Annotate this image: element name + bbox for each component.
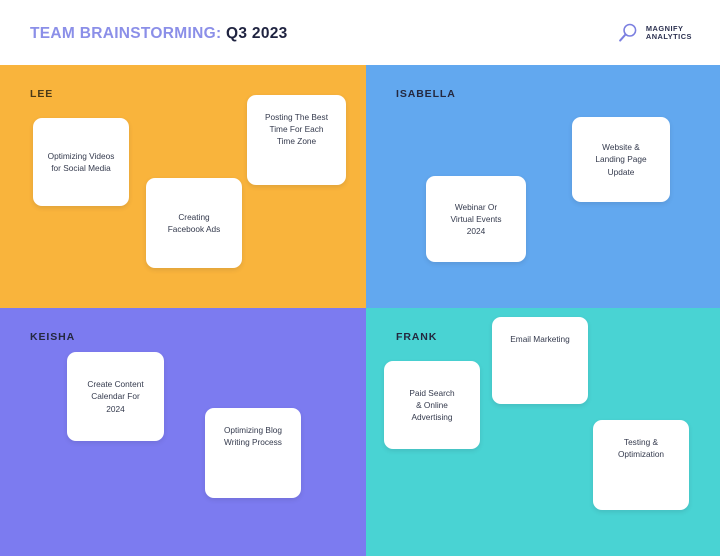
quadrant-keisha: KEISHA Create Content Calendar For 2024O… (0, 308, 366, 556)
sticky-note-text: Website & Landing Page Update (580, 141, 662, 177)
quadrant-isabella: ISABELLA Webinar Or Virtual Events 2024W… (366, 65, 720, 308)
quadrant-frank: FRANK Paid Search & Online AdvertisingEm… (366, 308, 720, 556)
sticky-note-text: Webinar Or Virtual Events 2024 (434, 201, 518, 237)
sticky-note[interactable]: Creating Facebook Ads (146, 178, 242, 268)
sticky-note-text: Posting The Best Time For Each Time Zone (255, 111, 338, 147)
sticky-note[interactable]: Paid Search & Online Advertising (384, 361, 480, 449)
sticky-note-text: Paid Search & Online Advertising (392, 387, 472, 423)
sticky-note[interactable]: Email Marketing (492, 317, 588, 404)
quadrant-owner-label: KEISHA (30, 331, 75, 343)
brand-name-line2: ANALYTICS (646, 33, 692, 41)
sticky-note[interactable]: Create Content Calendar For 2024 (67, 352, 164, 441)
sticky-note-text: Optimizing Videos for Social Media (41, 150, 121, 174)
page-title-lead: TEAM BRAINSTORMING: (30, 25, 221, 42)
page-title: TEAM BRAINSTORMING: Q3 2023 (30, 25, 288, 43)
sticky-note[interactable]: Optimizing Videos for Social Media (33, 118, 129, 206)
brainstorming-board: TEAM BRAINSTORMING: Q3 2023 MAGNIFY ANAL… (0, 0, 720, 556)
brand-name: MAGNIFY ANALYTICS (646, 25, 692, 42)
sticky-note-text: Optimizing Blog Writing Process (213, 424, 293, 448)
quadrant-grid: LEE Optimizing Videos for Social MediaCr… (0, 65, 720, 556)
page-title-period: Q3 2023 (226, 25, 288, 42)
sticky-note[interactable]: Website & Landing Page Update (572, 117, 670, 202)
sticky-note[interactable]: Posting The Best Time For Each Time Zone (247, 95, 346, 185)
sticky-note[interactable]: Testing & Optimization (593, 420, 689, 510)
quadrant-lee: LEE Optimizing Videos for Social MediaCr… (0, 65, 366, 308)
page-header: TEAM BRAINSTORMING: Q3 2023 MAGNIFY ANAL… (0, 0, 720, 65)
brand-logo: MAGNIFY ANALYTICS (617, 22, 692, 44)
sticky-note-text: Creating Facebook Ads (154, 211, 234, 235)
quadrant-owner-label: FRANK (396, 331, 437, 343)
quadrant-owner-label: LEE (30, 88, 53, 100)
sticky-note[interactable]: Optimizing Blog Writing Process (205, 408, 301, 498)
sticky-note-text: Create Content Calendar For 2024 (75, 378, 156, 414)
sticky-note-text: Email Marketing (500, 333, 580, 345)
quadrant-owner-label: ISABELLA (396, 88, 456, 100)
sticky-note-text: Testing & Optimization (601, 436, 681, 460)
magnifying-glass-icon (617, 22, 639, 44)
sticky-note[interactable]: Webinar Or Virtual Events 2024 (426, 176, 526, 262)
